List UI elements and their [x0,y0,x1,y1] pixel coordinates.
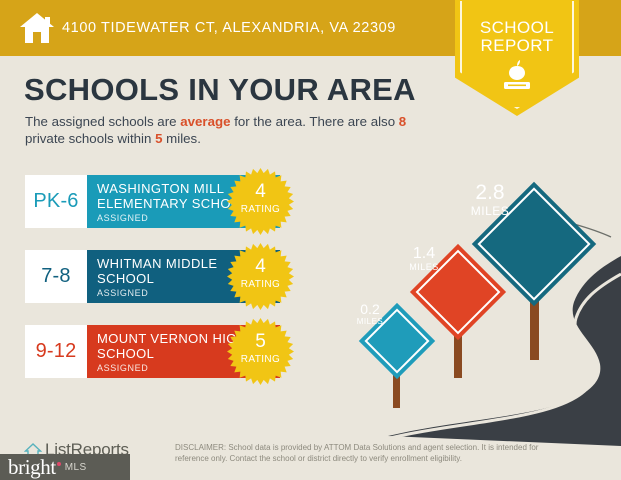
rating-starburst-badge: 4 RATING [227,243,294,310]
property-address: 4100 TIDEWATER CT, ALEXANDRIA, VA 22309 [62,20,396,36]
distance-value: 2.8 [475,182,504,204]
grade-range-label: 7-8 [41,265,71,288]
disclaimer-text: DISCLAIMER: School data is provided by A… [175,442,547,464]
rating-starburst-badge: 5 RATING [227,318,294,385]
distance-value: 1.4 [413,245,435,262]
brightmls-suffix: MLS [65,462,87,473]
rating-value: 5 [227,332,294,351]
subtitle-text-3: private schools within [25,131,155,146]
badge-label-report: REPORT [455,36,579,56]
rating-label: RATING [227,204,294,215]
school-report-infographic: 4100 TIDEWATER CT, ALEXANDRIA, VA 22309 … [0,0,621,480]
school-row[interactable]: 7-8 WHITMAN MIDDLE SCHOOL ASSIGNED 4 RAT… [25,250,280,303]
page-title: SCHOOLS IN YOUR AREA [24,72,416,108]
grade-range-box: PK-6 [25,175,87,228]
distance-unit: MILES [357,317,384,326]
subtitle-text-2: for the area. There are also [231,114,399,129]
brightmls-brand: bright [8,455,56,480]
rating-value: 4 [227,182,294,201]
grade-range-label: 9-12 [36,340,77,363]
badge-label-school: SCHOOL [455,18,579,38]
page-subtitle: The assigned schools are average for the… [25,113,445,147]
rating-label: RATING [227,354,294,365]
subtitle-text-1: The assigned schools are [25,114,180,129]
subtitle-highlight-count: 8 [399,114,406,129]
house-icon [18,11,56,45]
distance-value: 0.2 [360,302,379,317]
brightmls-dot-icon [57,462,61,466]
rating-label: RATING [227,279,294,290]
school-row[interactable]: PK-6 WASHINGTON MILL ELEMENTARY SCHOOL A… [25,175,280,228]
grade-range-box: 9-12 [25,325,87,378]
school-row[interactable]: 9-12 MOUNT VERNON HIGH SCHOOL ASSIGNED 5… [25,325,280,378]
rating-value: 4 [227,257,294,276]
school-report-badge: SCHOOL REPORT [455,0,579,116]
footer: ListReports DISCLAIMER: School data is p… [0,432,621,480]
distance-unit: MILES [471,204,510,218]
apple-on-book-icon [501,58,533,92]
distance-unit: MILES [409,262,439,272]
subtitle-text-4: miles. [162,131,200,146]
distance-illustration: 0.2 MILES 1.4 MILES 2.8 MILES [368,196,621,446]
grade-range-box: 7-8 [25,250,87,303]
rating-starburst-badge: 4 RATING [227,168,294,235]
brightmls-watermark: bright MLS [0,454,130,480]
grade-range-label: PK-6 [33,190,78,213]
subtitle-highlight-rating: average [180,114,230,129]
